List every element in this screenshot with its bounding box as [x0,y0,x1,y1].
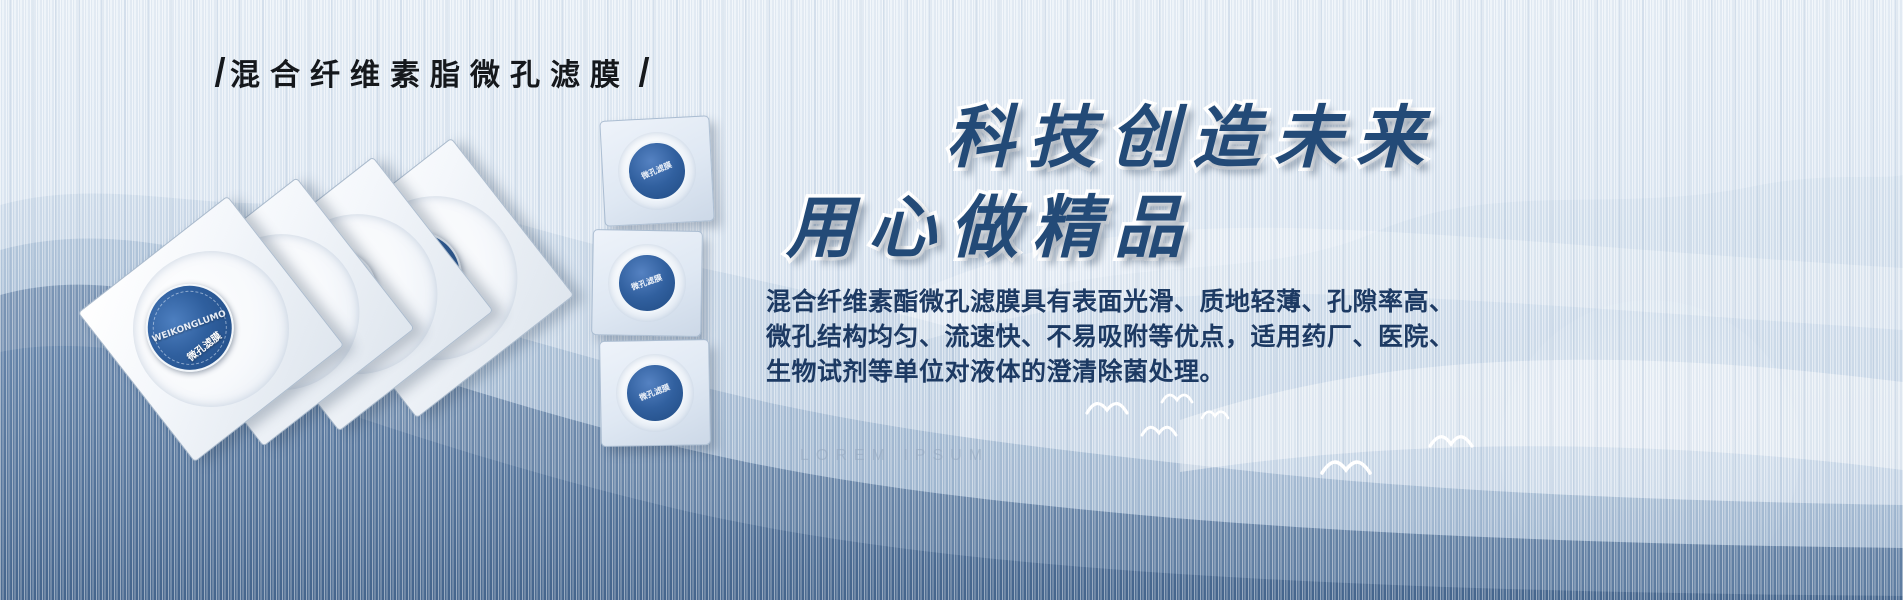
membrane-disc: 微孔滤膜 [615,353,694,432]
bird-icon [1140,422,1178,440]
membrane-disc: 微孔滤膜 [616,130,698,212]
bird-icon [1320,455,1372,479]
slogan-line-2: 用心做精品 [786,172,1196,271]
membrane-sample: 微孔滤膜 [591,229,703,337]
bird-icon [1085,398,1129,418]
bird-icon [1160,390,1194,406]
label-cn-text: 微孔滤膜 [641,161,674,182]
watermark-text: LOREM IPSUM [800,447,989,465]
product-label: 微孔滤膜 [625,139,688,202]
product-description: 混合纤维素酯微孔滤膜具有表面光滑、质地轻薄、孔隙率高、 微孔结构均匀、流速快、不… [766,284,1456,389]
page-title-text: 混合纤维素脂微孔滤膜 [230,50,630,94]
description-line-1: 混合纤维素酯微孔滤膜具有表面光滑、质地轻薄、孔隙率高、 [766,284,1456,319]
description-line-2: 微孔结构均匀、流速快、不易吸附等优点，适用药厂、医院、 [766,319,1456,354]
page-title: 混合纤维素脂微孔滤膜 [218,50,646,94]
membrane-sample: 微孔滤膜 [599,339,711,447]
description-line-3: 生物试剂等单位对液体的澄清除菌处理。 [766,354,1456,389]
label-cn-text: 微孔滤膜 [638,383,671,403]
membrane-disc: 微孔滤膜 [607,243,686,322]
bird-icon [1200,407,1230,422]
bird-icon [1428,430,1474,452]
product-image-group: WEIKONGLUMO 微孔滤膜 WEIKONGLUMO 孔滤膜 WEIKONG… [110,130,580,460]
membrane-sample: 微孔滤膜 [599,115,714,227]
label-cn-text: 微孔滤膜 [630,274,663,293]
product-label: 微孔滤膜 [616,252,677,313]
slogan-line-1: 科技创造未来 [946,82,1438,181]
product-label: 微孔滤膜 [624,362,685,423]
promo-banner: 混合纤维素脂微孔滤膜 科技创造未来 用心做精品 混合纤维素酯微孔滤膜具有表面光滑… [0,0,1903,600]
